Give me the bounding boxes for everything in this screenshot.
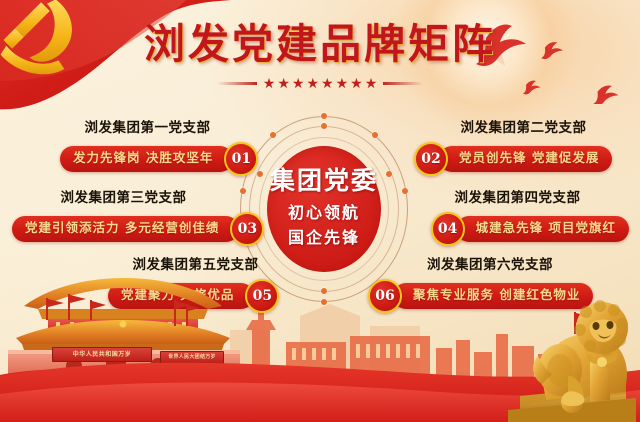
branch-number: 03 (238, 222, 257, 236)
branch-number-badge: 02 (414, 142, 448, 176)
poster-root: 浏发党建品牌矩阵 ★★★★★★★★ 集团党委 初心领航 国企先锋 (0, 0, 640, 422)
star-icon: ★ (365, 76, 378, 90)
ring-dot (372, 132, 378, 138)
branch-item-03[interactable]: 浏发集团第三党支部 党建引领添活力 多元经营创佳绩 03 (12, 192, 264, 246)
branch-slogan-pill: 发力先锋岗 决胜攻坚年 (60, 146, 233, 172)
star-icon: ★ (263, 76, 276, 90)
star-icon: ★ (321, 76, 334, 90)
branch-number-badge: 05 (245, 279, 279, 313)
ring-dot (321, 113, 327, 119)
center-main-title: 集团党委 (267, 168, 381, 193)
branch-row: 党员创先锋 党建促发展 02 (414, 142, 612, 176)
divider-rule-left (217, 82, 257, 85)
branch-number: 06 (375, 289, 394, 303)
branch-number-badge: 03 (230, 212, 264, 246)
branch-item-04[interactable]: 浏发集团第四党支部 城建急先锋 项目党旗红 04 (406, 192, 629, 246)
center-subtitle-1: 初心领航 (267, 202, 381, 225)
branch-row: 城建急先锋 项目党旗红 04 (406, 212, 629, 246)
poster-title: 浏发党建品牌矩阵 (0, 24, 640, 65)
star-icon: ★ (277, 76, 290, 90)
star-row: ★★★★★★★★ (263, 76, 378, 90)
branch-item-01[interactable]: 浏发集团第一党支部 发力先锋岗 决胜攻坚年 01 (60, 122, 258, 176)
branch-heading: 浏发集团第三党支部 (12, 192, 235, 206)
star-divider: ★★★★★★★★ (0, 76, 640, 90)
branch-slogan: 党员创先锋 党建促发展 (459, 152, 599, 165)
branch-heading: 浏发集团第二党支部 (436, 122, 611, 136)
center-core-circle: 集团党委 初心领航 国企先锋 (267, 146, 381, 272)
ring-dot (321, 123, 327, 129)
branch-slogan-pill: 城建急先锋 项目党旗红 (456, 216, 629, 242)
star-icon: ★ (336, 76, 349, 90)
divider-rule-right (383, 82, 423, 85)
center-subtitle-2: 国企先锋 (267, 227, 381, 250)
poster-title-block: 浏发党建品牌矩阵 ★★★★★★★★ (0, 24, 640, 90)
branch-number-badge: 04 (431, 212, 465, 246)
branch-slogan: 党建引领添活力 多元经营创佳绩 (25, 222, 219, 235)
bottom-scene: 中华人民共和国万岁 世界人民大团结万岁 (0, 272, 640, 422)
branch-number: 04 (438, 222, 457, 236)
star-icon: ★ (350, 76, 363, 90)
branch-number: 02 (421, 152, 440, 166)
branch-number: 01 (232, 152, 251, 166)
branch-slogan: 发力先锋岗 决胜攻坚年 (73, 152, 213, 165)
branch-heading: 浏发集团第一党支部 (60, 122, 235, 136)
branch-number-badge: 01 (224, 142, 258, 176)
branch-slogan-pill: 党员创先锋 党建促发展 (439, 146, 612, 172)
center-text-block: 集团党委 初心领航 国企先锋 (267, 168, 381, 250)
branch-item-02[interactable]: 浏发集团第二党支部 党员创先锋 党建促发展 02 (414, 122, 612, 176)
ring-dot (386, 171, 392, 177)
star-icon: ★ (292, 76, 305, 90)
branch-slogan: 城建急先锋 项目党旗红 (476, 222, 616, 235)
branch-heading: 浏发集团第四党支部 (406, 192, 629, 206)
branch-number-badge: 06 (368, 279, 402, 313)
branch-number: 05 (253, 289, 272, 303)
branch-heading: 浏发集团第六党支部 (390, 259, 590, 273)
guardian-lion-icon (498, 272, 638, 422)
branch-heading: 浏发集团第五党支部 (108, 259, 283, 273)
branch-row: 发力先锋岗 决胜攻坚年 01 (60, 142, 258, 176)
star-icon: ★ (306, 76, 319, 90)
ring-dot (270, 132, 276, 138)
branch-row: 党建引领添活力 多元经营创佳绩 03 (12, 212, 264, 246)
branch-slogan-pill: 党建引领添活力 多元经营创佳绩 (12, 216, 239, 242)
